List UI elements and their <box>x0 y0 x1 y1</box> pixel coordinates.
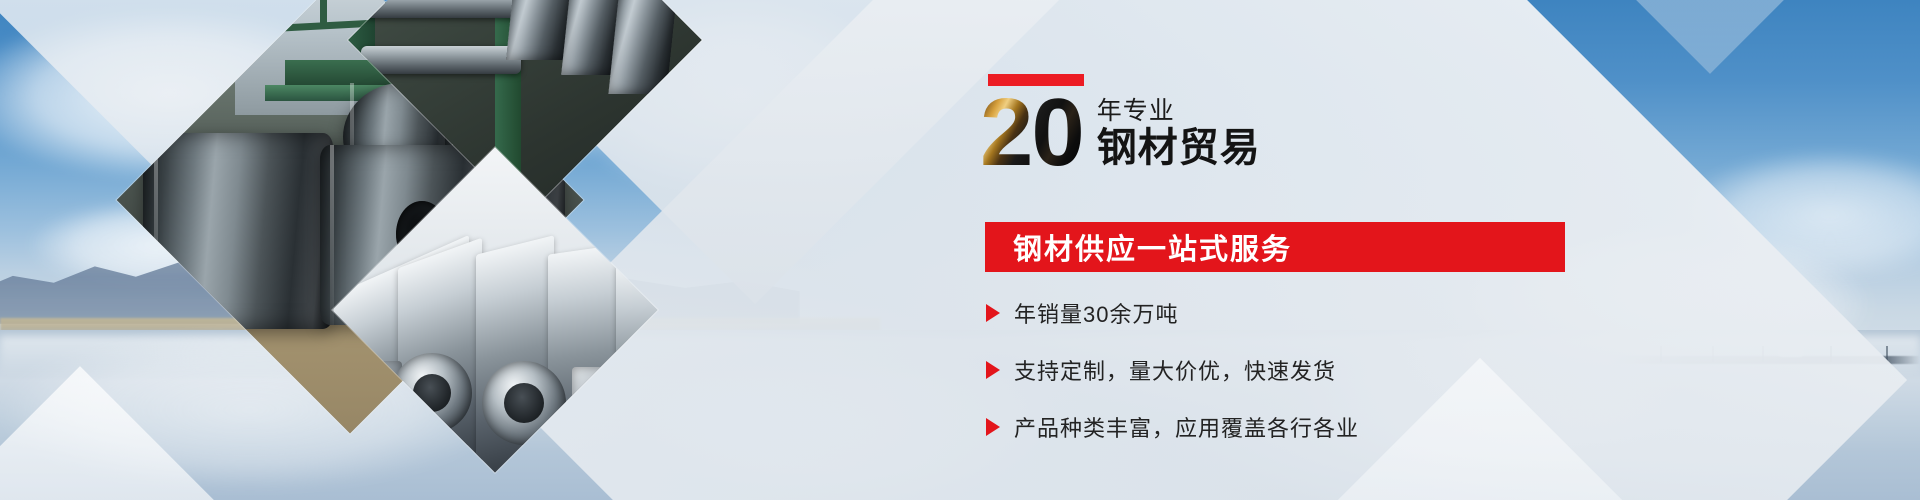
list-item-label: 产品种类丰富，应用覆盖各行各业 <box>1014 411 1359 443</box>
square-tube-bore <box>586 383 644 433</box>
hero-banner: 20 年专业 钢材贸易 钢材供应一站式服务 年销量30余万吨 支持定制，量大价优… <box>0 0 1920 500</box>
steel-coil <box>143 133 333 329</box>
triangle-right-icon <box>986 361 1000 379</box>
feature-list: 年销量30余万吨 支持定制，量大价优，快速发货 产品种类丰富，应用覆盖各行各业 <box>986 298 1359 469</box>
list-item-label: 支持定制，量大价优，快速发货 <box>1014 354 1336 386</box>
headline-subtitle: 年专业 <box>1097 97 1261 126</box>
headline-title: 钢材贸易 <box>1097 126 1261 171</box>
banner-content: 20 年专业 钢材贸易 钢材供应一站式服务 年销量30余万吨 支持定制，量大价优… <box>800 0 1920 500</box>
triangle-right-icon <box>986 418 1000 436</box>
roof-truss <box>320 0 327 29</box>
steel-bar <box>616 261 658 473</box>
headline: 20 年专业 钢材贸易 <box>980 92 1261 175</box>
list-item: 支持定制，量大价优，快速发货 <box>986 355 1359 385</box>
years-number: 20 <box>980 92 1083 175</box>
product-photo-collage <box>150 0 670 500</box>
slogan-text: 钢材供应一站式服务 <box>1013 226 1292 268</box>
round-tube <box>392 353 472 433</box>
list-item-label: 年销量30余万吨 <box>1014 297 1178 329</box>
list-item: 产品种类丰富，应用覆盖各行各业 <box>986 412 1359 442</box>
square-tube <box>572 367 658 447</box>
round-tube <box>482 361 566 445</box>
list-item: 年销量30余万吨 <box>986 298 1359 328</box>
machine-roller <box>361 46 521 74</box>
slogan-band: 钢材供应一站式服务 <box>985 222 1565 272</box>
triangle-right-icon <box>986 304 1000 322</box>
headline-words: 年专业 钢材贸易 <box>1097 97 1261 175</box>
